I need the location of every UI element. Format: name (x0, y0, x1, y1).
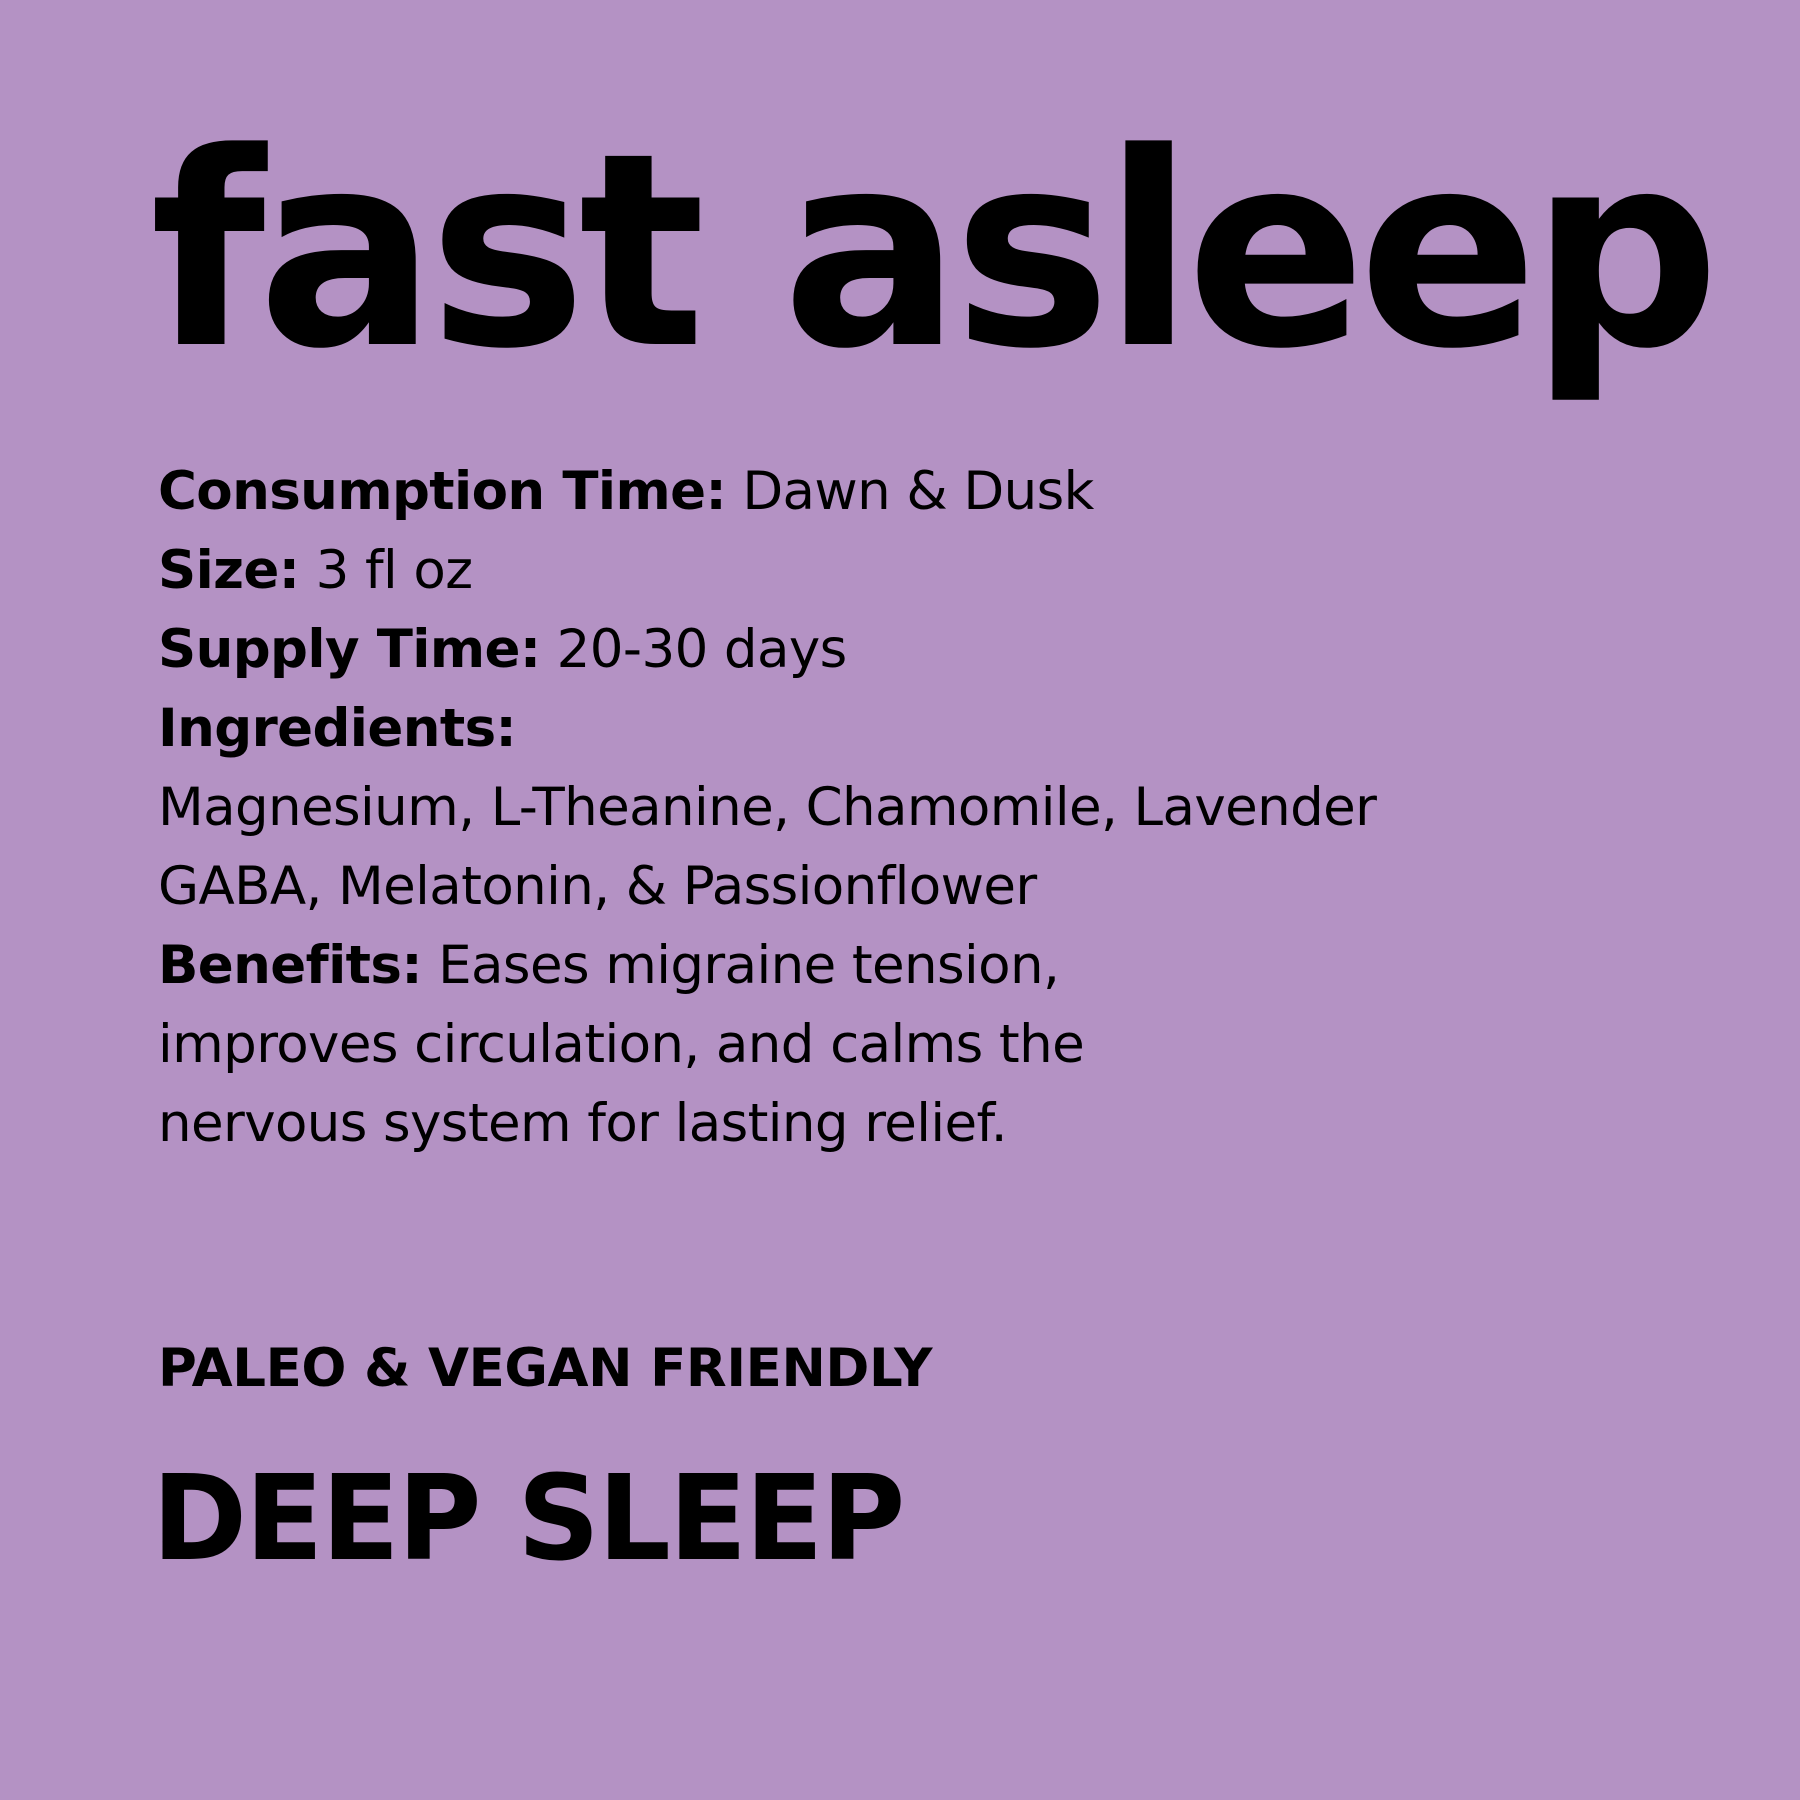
spec-row-supply-time: Supply Time: 20-30 days (158, 610, 1678, 689)
spec-value-consumption-time: Dawn & Dusk (726, 461, 1094, 522)
spec-label-supply-time: Supply Time: (158, 619, 540, 680)
brand-title: fast asleep (150, 118, 1712, 386)
spec-row-ingredients-heading: Ingredients: (158, 689, 1678, 768)
product-label-card: fast asleep Consumption Time: Dawn & Dus… (0, 0, 1800, 1800)
spec-label-ingredients: Ingredients: (158, 698, 516, 759)
benefits-text-1: Eases migraine tension, (422, 935, 1059, 996)
spec-label-consumption-time: Consumption Time: (158, 461, 726, 522)
benefits-label: Benefits: (158, 935, 422, 996)
ingredients-line-1: Magnesium, L-Theanine, Chamomile, Lavend… (158, 768, 1678, 847)
spec-value-size: 3 fl oz (299, 540, 472, 601)
benefits-line-2: improves circulation, and calms the (158, 1005, 1678, 1084)
spec-row-consumption-time: Consumption Time: Dawn & Dusk (158, 452, 1678, 531)
diet-claim-badge: PALEO & VEGAN FRIENDLY (158, 1329, 932, 1408)
ingredients-line-2: GABA, Melatonin, & Passionflower (158, 847, 1678, 926)
product-headline: DEEP SLEEP (152, 1459, 903, 1577)
spec-row-size: Size: 3 fl oz (158, 531, 1678, 610)
benefits-line-3: nervous system for lasting relief. (158, 1084, 1678, 1163)
spec-label-size: Size: (158, 540, 299, 601)
spec-block: Consumption Time: Dawn & Dusk Size: 3 fl… (158, 452, 1678, 1163)
spec-value-supply-time: 20-30 days (540, 619, 846, 680)
benefits-line-1: Benefits: Eases migraine tension, (158, 926, 1678, 1005)
